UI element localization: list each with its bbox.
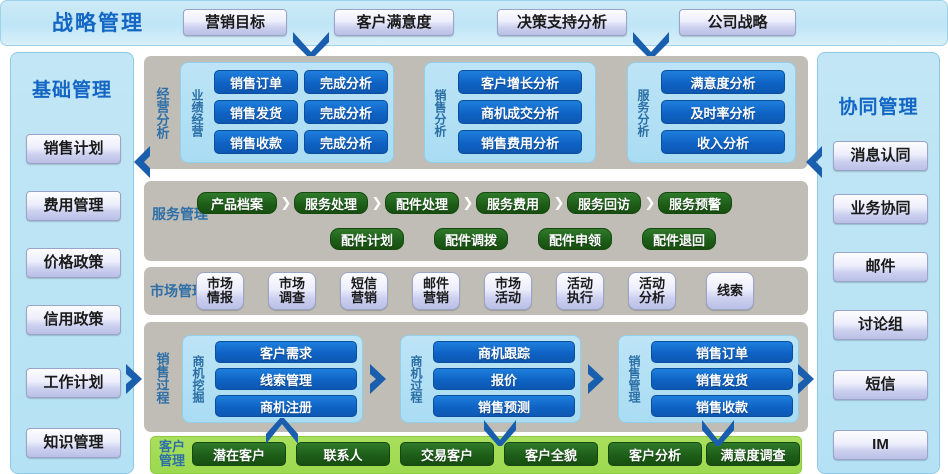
market-button-market-intel[interactable]: 市场 情报 bbox=[196, 272, 244, 310]
stage-card-label-sales-management: 销售管理 bbox=[625, 341, 643, 417]
chevron-right-icon bbox=[124, 362, 150, 396]
service-analysis-card-label: 服务分析 bbox=[634, 68, 652, 157]
market-button-activity-analysis[interactable]: 活动 分析 bbox=[628, 272, 676, 310]
sidebar-item-knowledge-management[interactable]: 知识管理 bbox=[26, 428, 121, 458]
analysis-button-satisfaction[interactable]: 满意度分析 bbox=[661, 70, 785, 94]
market-button-line2: 活动 bbox=[495, 291, 521, 305]
market-button-line1: 活动 bbox=[567, 277, 593, 291]
sales-button-sales-delivery[interactable]: 销售发货 bbox=[651, 368, 793, 390]
market-button-line2: 营销 bbox=[351, 291, 377, 305]
service-flow-item-service-processing[interactable]: 服务处理 bbox=[294, 192, 368, 214]
market-button-line1: 邮件 bbox=[423, 277, 449, 291]
service-flow-item-parts-processing[interactable]: 配件处理 bbox=[385, 192, 459, 214]
analysis-button-sales-order[interactable]: 销售订单 bbox=[214, 70, 298, 94]
sales-button-customer-demand[interactable]: 客户需求 bbox=[215, 341, 357, 363]
analysis-button-customer-growth[interactable]: 客户增长分析 bbox=[458, 70, 582, 94]
sidebar-item-expense-management[interactable]: 费用管理 bbox=[26, 191, 121, 221]
analysis-button-sales-delivery[interactable]: 销售发货 bbox=[214, 100, 298, 124]
service-flow-item-service-fee[interactable]: 服务费用 bbox=[476, 192, 550, 214]
analysis-button-completion-analysis-3[interactable]: 完成分析 bbox=[304, 130, 388, 154]
analysis-button-timeliness[interactable]: 及时率分析 bbox=[661, 100, 785, 124]
left-sidebar-title: 基础管理 bbox=[10, 75, 134, 102]
market-button-line1: 市场 bbox=[207, 277, 233, 291]
market-button-line1: 市场 bbox=[495, 277, 521, 291]
sidebar-item-credit-policy[interactable]: 信用政策 bbox=[26, 305, 121, 335]
analysis-button-completion-analysis-2[interactable]: 完成分析 bbox=[304, 100, 388, 124]
sales-button-quotation[interactable]: 报价 bbox=[433, 368, 575, 390]
chevron-left-icon bbox=[796, 144, 824, 180]
performance-card-label: 业绩经营 bbox=[188, 68, 206, 157]
customer-panel-label-text: 客户管理 bbox=[156, 440, 188, 467]
service-item-parts-plan[interactable]: 配件计划 bbox=[330, 228, 404, 250]
service-panel-label: 服务管理 bbox=[152, 193, 186, 237]
service-item-parts-request[interactable]: 配件申领 bbox=[538, 228, 612, 250]
customer-button-contact[interactable]: 联系人 bbox=[296, 442, 390, 466]
sidebar-item-email[interactable]: 邮件 bbox=[833, 252, 928, 282]
chevron-right-icon bbox=[796, 362, 822, 396]
sales-button-opportunity-tracking[interactable]: 商机跟踪 bbox=[433, 341, 575, 363]
market-panel-label-text: 市场管理 bbox=[150, 284, 184, 299]
service-flow-item-service-revisit[interactable]: 服务回访 bbox=[567, 192, 641, 214]
flow-arrow-icon: ❯ bbox=[461, 192, 475, 214]
customer-button-customer-overview[interactable]: 客户全貌 bbox=[504, 442, 598, 466]
header-button-decision-support-analysis[interactable]: 决策支持分析 bbox=[497, 9, 627, 36]
sales-button-sales-forecast[interactable]: 销售预测 bbox=[433, 395, 575, 417]
market-button-line1: 短信 bbox=[351, 277, 377, 291]
sidebar-item-sms[interactable]: 短信 bbox=[833, 370, 928, 400]
flow-arrow-icon: ❯ bbox=[370, 192, 384, 214]
service-flow-item-service-alert[interactable]: 服务预警 bbox=[658, 192, 732, 214]
service-item-parts-transfer[interactable]: 配件调拨 bbox=[434, 228, 508, 250]
chevron-left-icon bbox=[124, 144, 152, 180]
service-flow-item-product-archive[interactable]: 产品档案 bbox=[197, 192, 277, 214]
chevron-down-icon bbox=[482, 418, 518, 446]
chevron-up-icon bbox=[264, 418, 300, 446]
sales-process-panel-label: 销售过程 bbox=[152, 332, 172, 424]
market-panel-label: 市场管理 bbox=[150, 273, 184, 311]
customer-button-transaction-customer[interactable]: 交易客户 bbox=[400, 442, 494, 466]
page-title: 战略管理 bbox=[28, 8, 168, 36]
market-button-line2: 情报 bbox=[207, 291, 233, 305]
sales-analysis-card-label: 销售分析 bbox=[431, 68, 449, 157]
analysis-button-opportunity-deal[interactable]: 商机成交分析 bbox=[458, 100, 582, 124]
flow-arrow-icon: ❯ bbox=[552, 192, 566, 214]
market-button-line1: 市场 bbox=[279, 277, 305, 291]
analysis-panel-label: 经营分析 bbox=[152, 63, 172, 163]
diagram-canvas: 战略管理 营销目标 客户满意度 决策支持分析 公司战略 基础管理 销售计划 费用… bbox=[0, 0, 948, 474]
sidebar-item-price-policy[interactable]: 价格政策 bbox=[26, 248, 121, 278]
sales-button-lead-management[interactable]: 线索管理 bbox=[215, 368, 357, 390]
flow-arrow-icon: ❯ bbox=[643, 192, 657, 214]
market-button-market-activity[interactable]: 市场 活动 bbox=[484, 272, 532, 310]
analysis-button-revenue[interactable]: 收入分析 bbox=[661, 130, 785, 154]
market-button-activity-execution[interactable]: 活动 执行 bbox=[556, 272, 604, 310]
stage-card-label-opportunity-mining: 商机挖掘 bbox=[189, 341, 207, 417]
market-button-line2: 分析 bbox=[639, 291, 665, 305]
sales-button-sales-payment[interactable]: 销售收款 bbox=[651, 395, 793, 417]
chevron-down-icon bbox=[700, 418, 736, 446]
header-button-marketing-goal[interactable]: 营销目标 bbox=[183, 9, 287, 36]
sidebar-item-business-collaboration[interactable]: 业务协同 bbox=[833, 194, 928, 224]
flow-arrow-icon bbox=[368, 362, 394, 396]
market-button-leads[interactable]: 线索 bbox=[706, 272, 754, 310]
flow-arrow-icon: ❯ bbox=[279, 192, 293, 214]
right-sidebar-title: 协同管理 bbox=[817, 92, 940, 119]
market-button-market-survey[interactable]: 市场 调查 bbox=[268, 272, 316, 310]
market-button-line2: 营销 bbox=[423, 291, 449, 305]
market-button-line1: 活动 bbox=[639, 277, 665, 291]
sidebar-item-work-plan[interactable]: 工作计划 bbox=[26, 368, 121, 398]
analysis-button-sales-expense[interactable]: 销售费用分析 bbox=[458, 130, 582, 154]
market-button-line2: 调查 bbox=[279, 291, 305, 305]
header-button-company-strategy[interactable]: 公司战略 bbox=[679, 9, 796, 36]
stage-card-label-opportunity-process: 商机过程 bbox=[407, 341, 425, 417]
header-button-customer-satisfaction[interactable]: 客户满意度 bbox=[334, 9, 454, 36]
market-button-line2: 执行 bbox=[567, 291, 593, 305]
service-item-parts-return[interactable]: 配件退回 bbox=[642, 228, 716, 250]
analysis-button-completion-analysis-1[interactable]: 完成分析 bbox=[304, 70, 388, 94]
analysis-button-sales-payment[interactable]: 销售收款 bbox=[214, 130, 298, 154]
sales-button-opportunity-registration[interactable]: 商机注册 bbox=[215, 395, 357, 417]
market-button-email-marketing[interactable]: 邮件 营销 bbox=[412, 272, 460, 310]
sidebar-item-im[interactable]: IM bbox=[833, 430, 928, 460]
sidebar-item-message-recognition[interactable]: 消息认同 bbox=[833, 141, 928, 171]
customer-panel-label: 客户管理 bbox=[156, 440, 188, 467]
flow-arrow-icon bbox=[586, 362, 612, 396]
sales-button-sales-order[interactable]: 销售订单 bbox=[651, 341, 793, 363]
customer-button-customer-analysis[interactable]: 客户分析 bbox=[608, 442, 702, 466]
market-button-sms-marketing[interactable]: 短信 营销 bbox=[340, 272, 388, 310]
sidebar-item-sales-plan[interactable]: 销售计划 bbox=[26, 134, 121, 164]
service-panel-label-text: 服务管理 bbox=[152, 207, 186, 222]
sidebar-item-discussion-group[interactable]: 讨论组 bbox=[833, 310, 928, 340]
